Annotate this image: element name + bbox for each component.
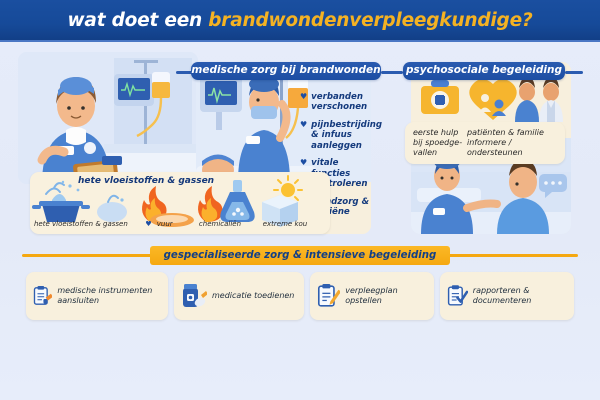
psychosocial-badge: psychosociale begeleiding <box>403 62 565 80</box>
badge-connector-right <box>565 71 583 74</box>
card-label: eerste hulp bij spoedge-vallen <box>413 128 467 157</box>
hazard-item-hete-vloeistoffen: hete vloeistoffen & gassen <box>34 211 124 230</box>
heart-bullet-icon: ♥ <box>300 92 307 102</box>
banner-rule-left <box>22 254 152 257</box>
heart-bullet-icon: ♥ <box>145 220 151 228</box>
badge-connector-mid <box>381 71 403 74</box>
page-header: wat doet een brandwondenverpleegkundige? <box>0 0 600 42</box>
hazard-item-extreme-kou: extreme kou <box>254 211 316 230</box>
action-card-label: medicatie toedienen <box>212 291 294 301</box>
card-patienten-familie: patiënten & familie informere / onderste… <box>467 128 563 157</box>
hazard-label: chemicaliën <box>199 220 241 228</box>
action-card-instrumenten[interactable]: medische instrumenten aansluiten <box>26 272 168 320</box>
page-title-plain: wat doet een <box>68 10 209 31</box>
medical-care-badge: medische zorg bij brandwonden <box>191 62 381 80</box>
card-eerste-hulp: eerste hulp bij spoedge-vallen <box>405 128 467 157</box>
hazard-label: vuur <box>157 220 173 228</box>
page-title-suffix: ? <box>522 10 533 31</box>
heart-bullet-icon: ♥ <box>300 158 307 168</box>
banner-rule-right <box>448 254 578 257</box>
medication-jar-icon <box>181 282 207 310</box>
clipboard-check-icon <box>447 282 468 310</box>
heart-bullet-icon: ♥ <box>300 120 307 130</box>
psychosocial-cards: eerste hulp bij spoedge-vallen patiënten… <box>405 122 565 164</box>
list-item: ♥ pijnbestrijding & infuus aanleggen <box>300 120 378 151</box>
page-title: wat doet een brandwondenverpleegkundige? <box>68 10 533 31</box>
nurse-scene-panel <box>18 52 198 184</box>
hazard-item-vuur: ♥ vuur <box>130 211 188 230</box>
psychosocial-badge-label: psychosociale begeleiding <box>406 65 562 77</box>
action-card-verpleegplan[interactable]: verpleegplan opstellen <box>310 272 434 320</box>
hazard-label: hete vloeistoffen & gassen <box>34 220 128 228</box>
bullet-label: verbanden verschonen <box>311 92 378 113</box>
action-card-label: verpleegplan opstellen <box>345 286 427 306</box>
specialized-care-banner: gespecialiseerde zorg & intensieve begel… <box>150 246 450 265</box>
hazard-label: extreme kou <box>263 220 308 228</box>
action-card-medicatie[interactable]: medicatie toedienen <box>174 272 304 320</box>
nurse-hospital-illustration <box>18 52 198 184</box>
hazards-floating-label: hete vloeistoffen & gassen <box>78 176 214 186</box>
list-item: ♥ verbanden verschonen <box>300 92 378 113</box>
action-card-label: medische instrumenten aansluiten <box>57 286 161 306</box>
card-label: patiënten & familie informere / onderste… <box>467 128 563 157</box>
action-card-label: rapporteren & documenteren <box>473 286 567 306</box>
medical-care-badge-label: medische zorg bij brandwonden <box>191 65 380 77</box>
page-title-accent: brandwondenverpleegkundige <box>208 10 522 31</box>
clipboard-pencil-icon <box>317 282 340 310</box>
bullet-label: pijnbestrijding & infuus aanleggen <box>311 120 382 151</box>
specialized-care-banner-label: gespecialiseerde zorg & intensieve begel… <box>164 250 437 261</box>
hazard-item-chemicalien: chemicaliën <box>190 211 250 230</box>
action-card-rapporteren[interactable]: rapporteren & documenteren <box>440 272 574 320</box>
clipboard-plug-icon <box>33 282 52 310</box>
